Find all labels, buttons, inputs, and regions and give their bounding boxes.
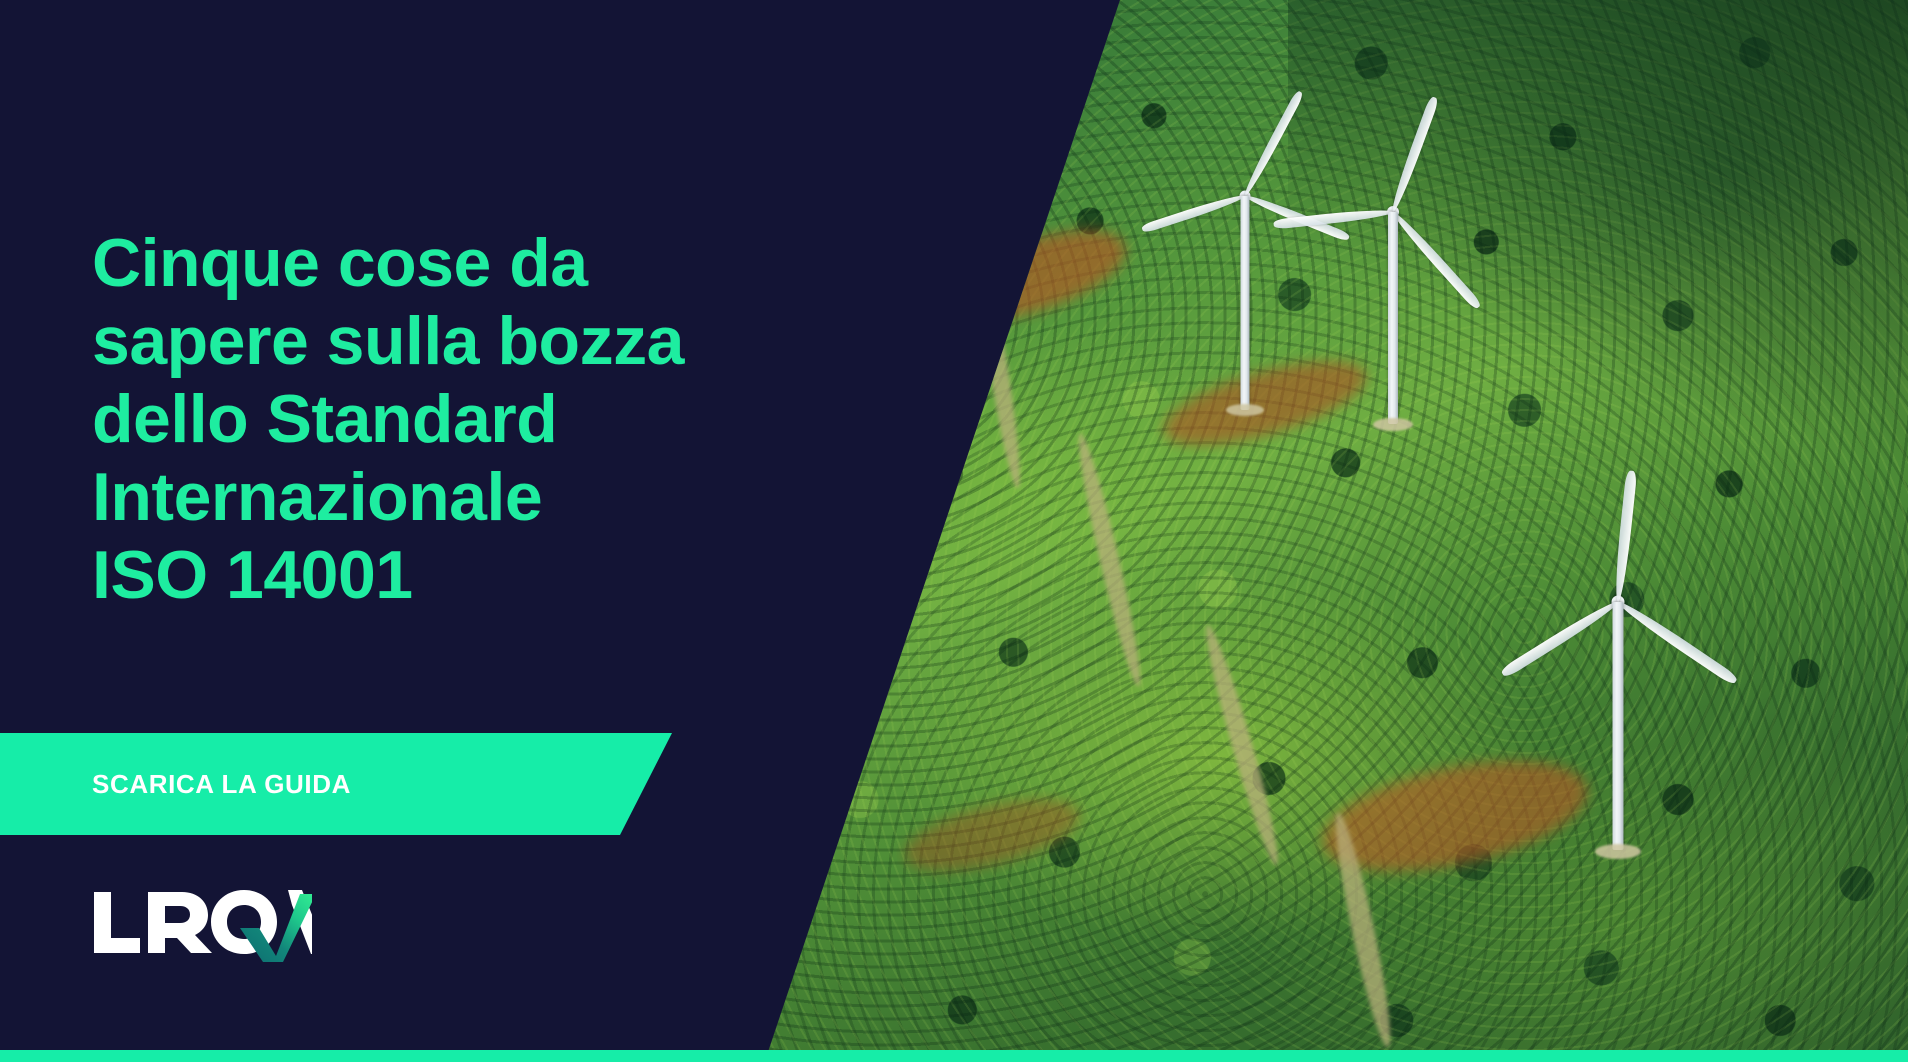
lrqa-logo — [92, 888, 312, 966]
turbine-mast — [1613, 602, 1624, 850]
turbine-blade — [1141, 192, 1246, 234]
page-title: Cinque cose da sapere sulla bozza dello … — [92, 224, 712, 614]
turbine-base — [1226, 404, 1264, 416]
lrqa-logo-mark — [92, 888, 312, 966]
turbine-blade — [1389, 209, 1482, 311]
turbine-mast — [1028, 60, 1033, 180]
dirt-road-segment — [935, 40, 977, 290]
turbine-blade — [1615, 597, 1739, 686]
turbine-base — [1373, 418, 1413, 431]
wind-turbine — [1268, 212, 1518, 342]
turbine-hub — [1027, 57, 1033, 63]
turbine-blade — [974, 57, 1031, 87]
download-guide-button[interactable]: SCARICA LA GUIDA — [0, 733, 672, 835]
turbine-blade — [1027, 0, 1055, 61]
turbine-blade — [1500, 597, 1621, 678]
hero-image-landscape — [630, 0, 1908, 1052]
wind-turbine — [960, 60, 1100, 130]
turbine-mast — [1388, 212, 1398, 424]
banner-root: Cinque cose da sapere sulla bozza dello … — [0, 0, 1908, 1062]
download-guide-button-label: SCARICA LA GUIDA — [92, 769, 351, 800]
turbine-base — [1595, 844, 1641, 859]
bottom-accent-strip — [0, 1050, 1908, 1062]
turbine-blade — [1029, 57, 1090, 82]
wind-turbine — [1478, 602, 1758, 752]
turbine-mast — [1241, 196, 1250, 410]
